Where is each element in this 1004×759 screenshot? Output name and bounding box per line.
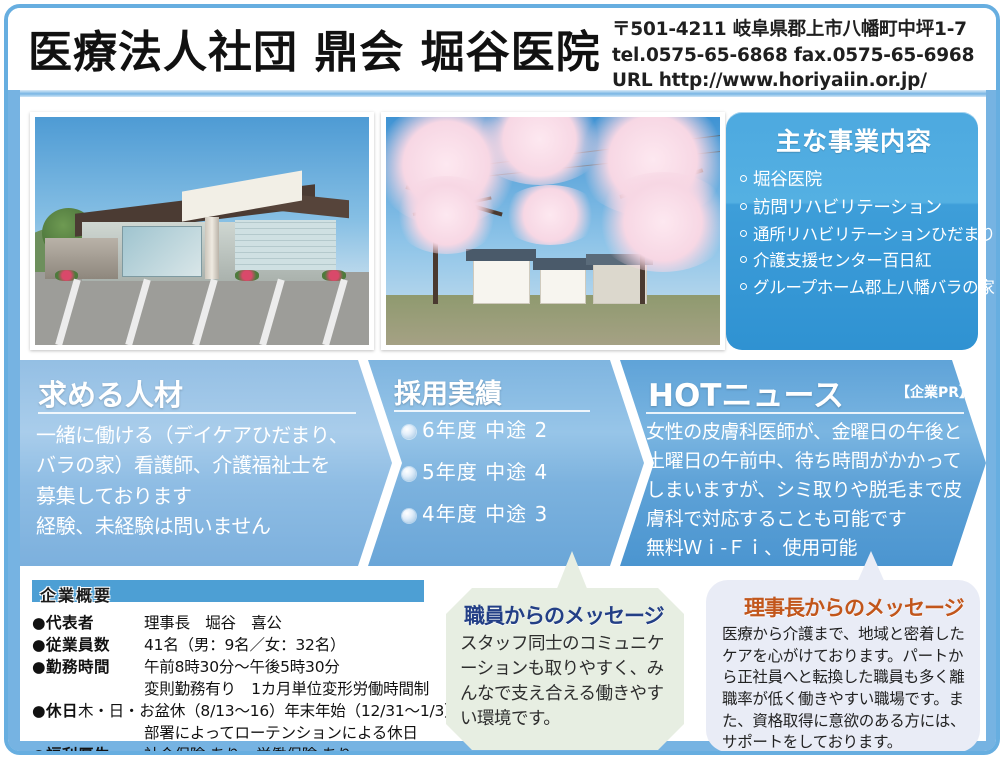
director-message-bubble: 理事長からのメッセージ 医療から介護まで、地域と密着したケアを心がけております。… (706, 580, 980, 752)
company-overview-table: ●代表者 理事長 堀谷 喜公 ●従業員数 41名（男：9名／女：32名） ●勤務… (32, 612, 430, 755)
company-overview-title: 企業概要 (32, 580, 424, 602)
hiring-record-list: 6年度 中途 2 5年度 中途 4 4年度 中途 3 (402, 420, 548, 546)
wanted-personnel-panel: 求める人材 一緒に働ける（デイケアひだまり、 バラの家）看護師、介護福祉士を 募… (20, 360, 392, 566)
clinic-building-photo (30, 112, 374, 350)
advertisement-page: 医療法人社団 鼎会 堀谷医院 〒501-4211 岐阜県郡上市八幡町中坪1-7 … (0, 0, 1004, 759)
hot-news-panel: HOTニュース 【企業PR】 女性の皮膚科医師が、金曜日の午後と 土曜日の午前中… (620, 360, 986, 566)
hiring-record-row: 4年度 中途 3 (402, 504, 548, 524)
hiring-record-row: 5年度 中途 4 (402, 462, 548, 482)
bullet-circle-icon (740, 203, 747, 210)
phone-fax: tel.0575-65-6868 fax.0575-65-6968 (612, 43, 974, 69)
hiring-record-panel: 採用実績 6年度 中途 2 5年度 中途 4 4年度 中途 3 (368, 360, 644, 566)
title-underline (646, 412, 964, 414)
staff-message-bubble: 職員からのメッセージ スタッフ同士のコミュニケーションも取りやすく、みんなで支え… (446, 588, 684, 750)
header: 医療法人社団 鼎会 堀谷医院 〒501-4211 岐阜県郡上市八幡町中坪1-7 … (8, 8, 996, 90)
service-item: 通所リハビリテーションひだまり (740, 222, 968, 248)
contact-block: 〒501-4211 岐阜県郡上市八幡町中坪1-7 tel.0575-65-686… (612, 17, 974, 94)
bullet-circle-icon (740, 283, 747, 290)
director-message-body: 医療から介護まで、地域と密着したケアを心がけております。パートから正社員へと転換… (722, 624, 972, 754)
overview-row-continuation: 部署によってローテンションによる休日 (144, 722, 430, 744)
pr-badge: 【企業PR】 (896, 382, 973, 402)
postal-address: 〒501-4211 岐阜県郡上市八幡町中坪1-7 (612, 17, 974, 43)
title-underline (394, 410, 590, 412)
header-divider (8, 90, 996, 97)
wanted-personnel-title: 求める人材 (38, 372, 183, 414)
bullet-circle-icon (740, 175, 747, 182)
service-item: グループホーム郡上八幡バラの家 (740, 275, 968, 301)
right-blue-rail (986, 90, 996, 755)
overview-row: ●従業員数 41名（男：9名／女：32名） (32, 634, 430, 656)
hot-news-title: HOTニュース (648, 370, 844, 415)
left-blue-rail (8, 90, 20, 755)
bullet-circle-icon (740, 256, 747, 263)
service-item: 介護支援センター百日紅 (740, 248, 968, 274)
hiring-record-title: 採用実績 (394, 372, 502, 411)
service-item: 訪問リハビリテーション (740, 194, 968, 222)
overview-row: ●休日 木・日・お盆休（8/13〜16）年末年始（12/31〜1/3） (32, 700, 430, 722)
cherry-blossom-photo (381, 112, 725, 350)
company-overview: 企業概要 ●代表者 理事長 堀谷 喜公 ●従業員数 41名（男：9名／女：32名… (32, 580, 430, 752)
bullet-sphere-icon (402, 425, 416, 439)
services-panel: 主な事業内容 堀谷医院 訪問リハビリテーション 通所リハビリテーションひだまり … (726, 112, 978, 350)
bullet-sphere-icon (402, 467, 416, 481)
hot-news-body: 女性の皮膚科医師が、金曜日の午後と 土曜日の午前中、待ち時間がかかって しまいま… (646, 418, 962, 562)
overview-row: ●福利厚生 社会保険 あり 労働保険 あり (32, 744, 430, 755)
page-card: 医療法人社団 鼎会 堀谷医院 〒501-4211 岐阜県郡上市八幡町中坪1-7 … (4, 4, 1000, 755)
services-title: 主な事業内容 (740, 122, 968, 158)
overview-row-continuation: 変則勤務有り 1カ月単位変形労働時間制 (144, 678, 430, 700)
staff-message-body: スタッフ同士のコミュニケーションも取りやすく、みんなで支え合える働きやすい環境で… (460, 632, 674, 731)
clinic-name-title: 医療法人社団 鼎会 堀谷医院 (28, 16, 601, 80)
service-item: 堀谷医院 (740, 166, 968, 194)
director-message-title: 理事長からのメッセージ (744, 592, 964, 622)
bullet-sphere-icon (402, 509, 416, 523)
wanted-personnel-body: 一緒に働ける（デイケアひだまり、 バラの家）看護師、介護福祉士を 募集しておりま… (36, 420, 348, 542)
chevron-bands: 求める人材 一緒に働ける（デイケアひだまり、 バラの家）看護師、介護福祉士を 募… (20, 360, 986, 566)
bullet-circle-icon (740, 230, 747, 237)
overview-row: ●代表者 理事長 堀谷 喜公 (32, 612, 430, 634)
title-underline (38, 412, 356, 414)
overview-row: ●勤務時間 午前8時30分〜午後5時30分 (32, 656, 430, 678)
hiring-record-row: 6年度 中途 2 (402, 420, 548, 440)
staff-bubble-tail (556, 551, 588, 591)
staff-message-title: 職員からのメッセージ (464, 600, 664, 630)
